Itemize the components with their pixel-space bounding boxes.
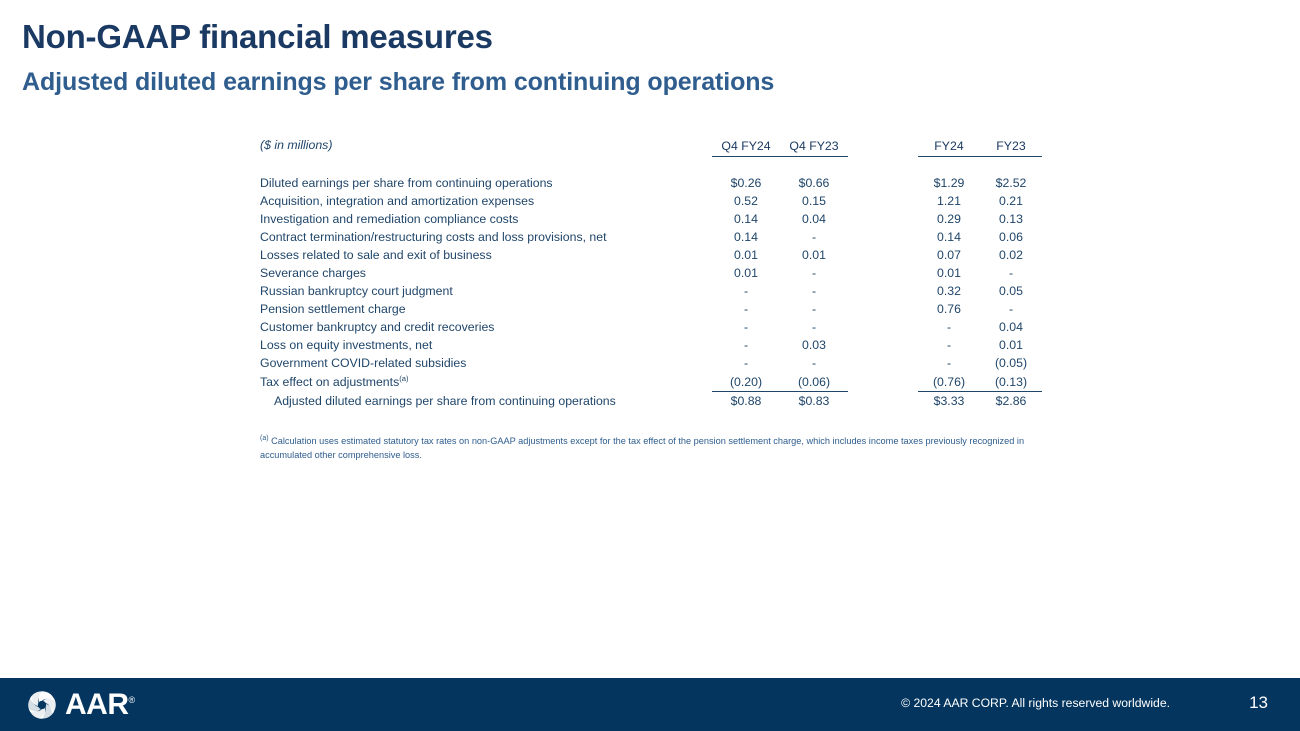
row-value-q4-fy23: 0.03 xyxy=(780,336,848,354)
row-value-q4-fy23: 0.01 xyxy=(780,246,848,264)
column-header-fy23: FY23 xyxy=(980,138,1042,156)
row-label: Government COVID-related subsidies xyxy=(260,354,712,372)
row-value-fy23: (0.13) xyxy=(980,373,1042,392)
row-label: Acquisition, integration and amortizatio… xyxy=(260,192,712,210)
row-value-q4-fy23: - xyxy=(780,282,848,300)
row-label: Loss on equity investments, net xyxy=(260,336,712,354)
row-value-fy23: 0.01 xyxy=(980,336,1042,354)
row-value-q4-fy23: 0.04 xyxy=(780,210,848,228)
row-value-fy24: 0.01 xyxy=(918,264,980,282)
row-value-q4-fy24: 0.52 xyxy=(712,192,780,210)
aar-wordmark: AAR® xyxy=(65,689,135,721)
column-header-q4-fy24: Q4 FY24 xyxy=(712,138,780,156)
footer-bar: AAR® © 2024 AAR CORP. All rights reserve… xyxy=(0,678,1300,731)
page-number: 13 xyxy=(1249,693,1268,713)
row-gap xyxy=(848,264,918,282)
row-gap xyxy=(848,373,918,392)
total-value-q4-fy24: $0.88 xyxy=(712,391,780,410)
row-label: Diluted earnings per share from continui… xyxy=(260,174,712,192)
table-row: Pension settlement charge - - 0.76 - xyxy=(260,300,1042,318)
row-value-q4-fy24: (0.20) xyxy=(712,373,780,392)
table-row: Contract termination/restructuring costs… xyxy=(260,228,1042,246)
row-value-q4-fy23: - xyxy=(780,264,848,282)
row-gap xyxy=(848,228,918,246)
row-value-fy24: 0.32 xyxy=(918,282,980,300)
row-value-q4-fy24: - xyxy=(712,336,780,354)
aar-wordmark-text: AAR xyxy=(65,688,129,721)
registered-trademark-icon: ® xyxy=(129,695,135,705)
column-header-q4-fy23: Q4 FY23 xyxy=(780,138,848,156)
row-label: Tax effect on adjustments(a) xyxy=(260,373,712,392)
table-row: Customer bankruptcy and credit recoverie… xyxy=(260,318,1042,336)
total-value-fy24: $3.33 xyxy=(918,391,980,410)
row-value-fy23: 0.13 xyxy=(980,210,1042,228)
page-subtitle: Adjusted diluted earnings per share from… xyxy=(22,68,774,97)
column-header-fy24: FY24 xyxy=(918,138,980,156)
row-gap xyxy=(848,174,918,192)
row-value-q4-fy24: $0.26 xyxy=(712,174,780,192)
table-row: Tax effect on adjustments(a) (0.20) (0.0… xyxy=(260,373,1042,392)
header-spacer xyxy=(260,156,1042,174)
page-title: Non-GAAP financial measures xyxy=(22,18,493,56)
row-label: Losses related to sale and exit of busin… xyxy=(260,246,712,264)
row-value-q4-fy23: - xyxy=(780,228,848,246)
non-gaap-eps-table: ($ in millions) Q4 FY24 Q4 FY23 FY24 FY2… xyxy=(260,138,1042,410)
table-row: Severance charges 0.01 - 0.01 - xyxy=(260,264,1042,282)
row-value-q4-fy23: $0.66 xyxy=(780,174,848,192)
row-value-q4-fy24: - xyxy=(712,318,780,336)
row-value-fy23: $2.52 xyxy=(980,174,1042,192)
row-value-q4-fy24: - xyxy=(712,300,780,318)
table-body: Diluted earnings per share from continui… xyxy=(260,174,1042,410)
row-value-q4-fy23: 0.15 xyxy=(780,192,848,210)
row-label: Contract termination/restructuring costs… xyxy=(260,228,712,246)
row-label: Severance charges xyxy=(260,264,712,282)
units-label: ($ in millions) xyxy=(260,138,712,156)
row-value-fy23: 0.04 xyxy=(980,318,1042,336)
footnote-marker: (a) xyxy=(399,374,408,383)
row-value-q4-fy23: - xyxy=(780,300,848,318)
row-gap xyxy=(848,210,918,228)
row-value-q4-fy24: - xyxy=(712,282,780,300)
spacer-cell xyxy=(260,156,1042,174)
row-value-fy24: 0.07 xyxy=(918,246,980,264)
table-footnote: (a) Calculation uses estimated statutory… xyxy=(260,434,1042,462)
row-value-q4-fy24: 0.14 xyxy=(712,210,780,228)
row-gap xyxy=(848,354,918,372)
row-value-fy23: 0.06 xyxy=(980,228,1042,246)
row-gap xyxy=(848,246,918,264)
row-value-fy23: 0.05 xyxy=(980,282,1042,300)
table-row: Loss on equity investments, net - 0.03 -… xyxy=(260,336,1042,354)
total-value-q4-fy23: $0.83 xyxy=(780,391,848,410)
row-label-text: Tax effect on adjustments xyxy=(260,375,399,389)
table-row: Acquisition, integration and amortizatio… xyxy=(260,192,1042,210)
row-value-fy24: - xyxy=(918,318,980,336)
row-gap xyxy=(848,282,918,300)
row-gap xyxy=(848,336,918,354)
row-value-q4-fy24: 0.01 xyxy=(712,264,780,282)
row-label: Investigation and remediation compliance… xyxy=(260,210,712,228)
table-row: Losses related to sale and exit of busin… xyxy=(260,246,1042,264)
row-value-q4-fy24: 0.14 xyxy=(712,228,780,246)
row-value-fy23: - xyxy=(980,264,1042,282)
row-value-fy24: 0.29 xyxy=(918,210,980,228)
row-value-q4-fy24: 0.01 xyxy=(712,246,780,264)
total-row-label: Adjusted diluted earnings per share from… xyxy=(260,391,712,410)
row-value-fy23: (0.05) xyxy=(980,354,1042,372)
row-gap xyxy=(848,318,918,336)
row-value-fy24: - xyxy=(918,354,980,372)
row-value-q4-fy24: - xyxy=(712,354,780,372)
row-value-fy24: 1.21 xyxy=(918,192,980,210)
row-value-fy23: - xyxy=(980,300,1042,318)
financial-table-container: ($ in millions) Q4 FY24 Q4 FY23 FY24 FY2… xyxy=(260,138,1042,410)
total-row-gap xyxy=(848,391,918,410)
row-value-q4-fy23: - xyxy=(780,354,848,372)
row-value-fy23: 0.21 xyxy=(980,192,1042,210)
row-value-fy24: 0.76 xyxy=(918,300,980,318)
aar-logo: AAR® xyxy=(26,689,135,721)
copyright-text: © 2024 AAR CORP. All rights reserved wor… xyxy=(901,696,1170,710)
row-label: Customer bankruptcy and credit recoverie… xyxy=(260,318,712,336)
aar-pinwheel-icon xyxy=(26,689,58,721)
table-header-row: ($ in millions) Q4 FY24 Q4 FY23 FY24 FY2… xyxy=(260,138,1042,156)
row-value-fy24: $1.29 xyxy=(918,174,980,192)
row-value-q4-fy23: (0.06) xyxy=(780,373,848,392)
row-value-q4-fy23: - xyxy=(780,318,848,336)
row-label: Russian bankruptcy court judgment xyxy=(260,282,712,300)
column-gap xyxy=(848,138,918,156)
row-value-fy24: 0.14 xyxy=(918,228,980,246)
row-gap xyxy=(848,300,918,318)
row-gap xyxy=(848,192,918,210)
row-label: Pension settlement charge xyxy=(260,300,712,318)
table-row: Investigation and remediation compliance… xyxy=(260,210,1042,228)
row-value-fy24: (0.76) xyxy=(918,373,980,392)
table-total-row: Adjusted diluted earnings per share from… xyxy=(260,391,1042,410)
table-row: Russian bankruptcy court judgment - - 0.… xyxy=(260,282,1042,300)
total-value-fy23: $2.86 xyxy=(980,391,1042,410)
table-row: Government COVID-related subsidies - - -… xyxy=(260,354,1042,372)
row-value-fy24: - xyxy=(918,336,980,354)
table-row: Diluted earnings per share from continui… xyxy=(260,174,1042,192)
footnote-marker-ref: (a) xyxy=(260,435,269,442)
footnote-text: Calculation uses estimated statutory tax… xyxy=(260,436,1024,460)
row-value-fy23: 0.02 xyxy=(980,246,1042,264)
